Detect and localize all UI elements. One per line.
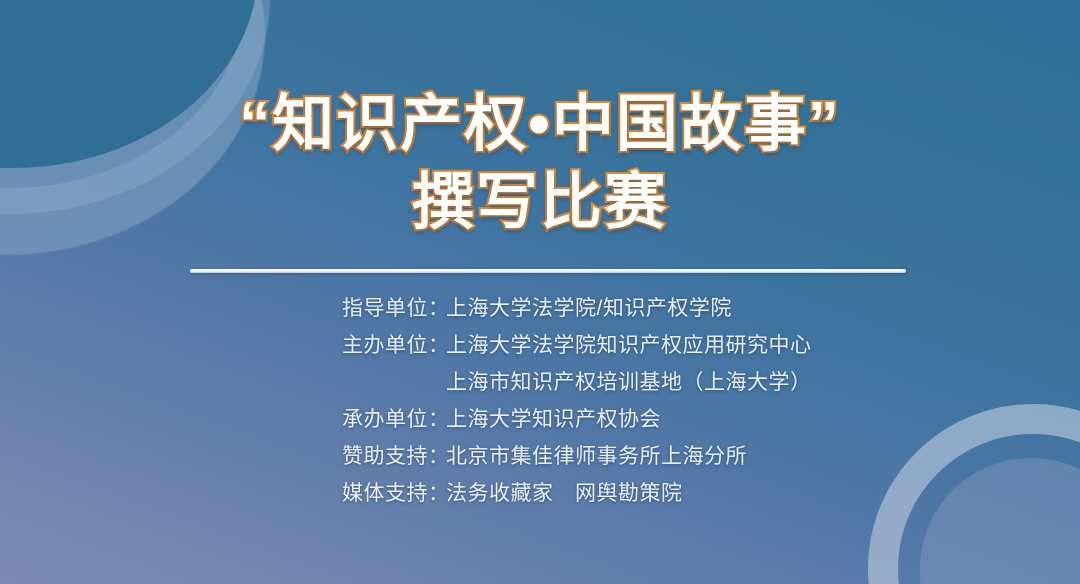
credit-row: 承办单位： 上海大学知识产权协会 (342, 403, 1002, 440)
credit-value: 上海大学知识产权协会 (446, 403, 1002, 433)
credit-value: 上海大学法学院/知识产权学院 (446, 292, 1002, 322)
credit-value: 上海市知识产权培训基地（上海大学） (446, 366, 1002, 396)
credit-label: 媒体支持： (342, 477, 446, 507)
credits-list: 指导单位： 上海大学法学院/知识产权学院 主办单位： 上海大学法学院知识产权应用… (342, 292, 1002, 514)
poster-title: “知识产权•中国故事” 撰写比赛 (0, 88, 1080, 240)
credit-value: 北京市集佳律师事务所上海分所 (446, 440, 1002, 470)
credit-label: 赞助支持： (342, 440, 446, 470)
credit-value: 法务收藏家 网舆勘策院 (446, 477, 1002, 507)
credit-label: 指导单位： (342, 292, 446, 322)
credit-row: 主办单位： 上海大学法学院知识产权应用研究中心 (342, 329, 1002, 366)
credit-label: 承办单位： (342, 403, 446, 433)
credit-value: 上海大学法学院知识产权应用研究中心 (446, 329, 1002, 359)
title-line-2: 撰写比赛 (0, 166, 1080, 240)
credit-row: 主办单位： 上海市知识产权培训基地（上海大学） (342, 366, 1002, 403)
credit-row: 指导单位： 上海大学法学院/知识产权学院 (342, 292, 1002, 329)
credit-label: 主办单位： (342, 329, 446, 359)
credit-row: 媒体支持： 法务收藏家 网舆勘策院 (342, 477, 1002, 514)
poster-canvas: “知识产权•中国故事” 撰写比赛 指导单位： 上海大学法学院/知识产权学院 主办… (0, 0, 1080, 584)
title-line-1: “知识产权•中国故事” (0, 88, 1080, 162)
credit-row: 赞助支持： 北京市集佳律师事务所上海分所 (342, 440, 1002, 477)
title-divider (190, 269, 906, 273)
